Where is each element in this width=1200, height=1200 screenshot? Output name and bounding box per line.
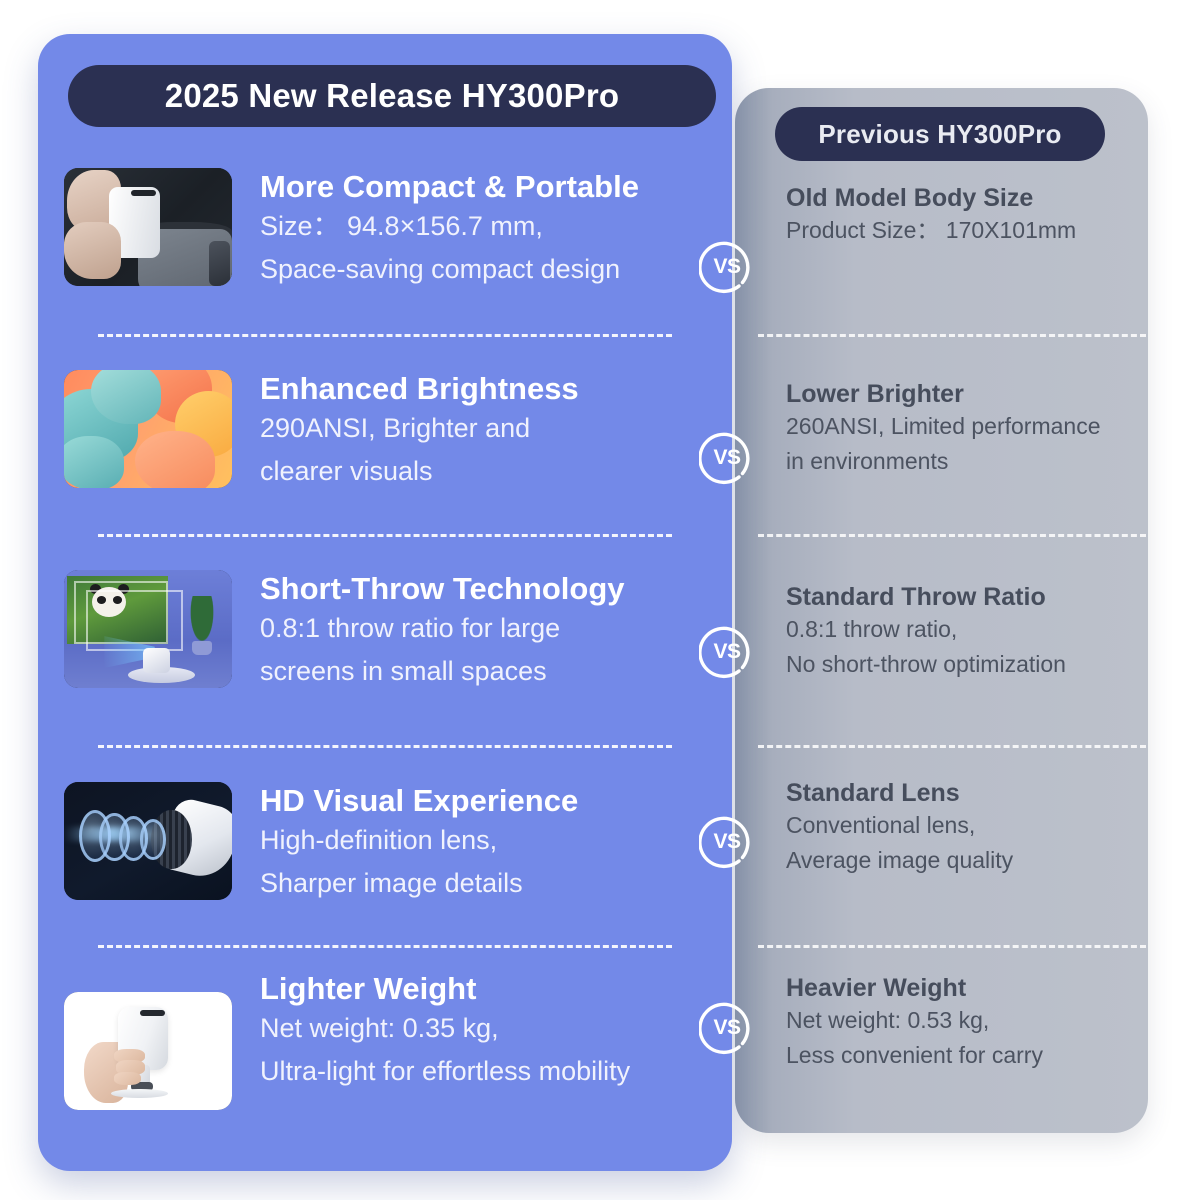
hand-holding-projector-thumbnail xyxy=(64,992,232,1110)
feature-line-new-5-1: Net weight: 0.35 kg, xyxy=(260,1007,630,1051)
vs-badge-label-1: VS xyxy=(699,239,755,295)
comparison-infographic: 2025 New Release HY300Pro Previous HY300… xyxy=(0,0,1200,1200)
feature-text-old-5: Heavier Weight Net weight: 0.53 kg, Less… xyxy=(786,973,1043,1073)
feature-line-new-2-2: clearer visuals xyxy=(260,450,579,494)
feature-line-new-4-2: Sharper image details xyxy=(260,862,578,906)
vs-badge-4: VS xyxy=(699,814,755,870)
feature-row-old-5: Heavier Weight Net weight: 0.53 kg, Less… xyxy=(786,973,1142,1073)
feature-row-old-3: Standard Throw Ratio 0.8:1 throw ratio, … xyxy=(786,582,1142,682)
feature-title-new-3: Short-Throw Technology xyxy=(260,572,625,607)
feature-text-new-3: Short-Throw Technology 0.8:1 throw ratio… xyxy=(260,570,625,694)
feature-line-old-4-2: Average image quality xyxy=(786,843,1013,878)
feature-text-old-3: Standard Throw Ratio 0.8:1 throw ratio, … xyxy=(786,582,1066,682)
feature-line-new-2-1: 290ANSI, Brighter and xyxy=(260,407,579,451)
vs-badge-5: VS xyxy=(699,1000,755,1056)
feature-text-new-1: More Compact & Portable Size： 94.8×156.7… xyxy=(260,168,639,292)
feature-row-new-1: More Compact & Portable Size： 94.8×156.7… xyxy=(64,168,696,292)
feature-title-old-2: Lower Brighter xyxy=(786,379,1101,409)
divider-left-4 xyxy=(98,945,672,948)
feature-line-old-2-2: in environments xyxy=(786,444,1101,479)
feature-text-new-4: HD Visual Experience High-definition len… xyxy=(260,782,578,906)
feature-text-new-2: Enhanced Brightness 290ANSI, Brighter an… xyxy=(260,370,579,494)
feature-text-old-4: Standard Lens Conventional lens, Average… xyxy=(786,778,1013,878)
feature-line-new-3-1: 0.8:1 throw ratio for large xyxy=(260,607,625,651)
feature-line-old-2-1: 260ANSI, Limited performance xyxy=(786,409,1101,444)
divider-left-3 xyxy=(98,745,672,748)
feature-title-new-1: More Compact & Portable xyxy=(260,170,639,205)
feature-title-old-5: Heavier Weight xyxy=(786,973,1043,1003)
feature-row-old-4: Standard Lens Conventional lens, Average… xyxy=(786,778,1142,878)
feature-line-new-1-2: Space-saving compact design xyxy=(260,248,639,292)
feature-line-old-5-2: Less convenient for carry xyxy=(786,1038,1043,1073)
lens-stack-thumbnail xyxy=(64,782,232,900)
vs-badge-3: VS xyxy=(699,624,755,680)
divider-right-1 xyxy=(758,334,1146,337)
feature-row-old-1: Old Model Body Size Product Size： 170X10… xyxy=(786,183,1142,248)
feature-title-new-4: HD Visual Experience xyxy=(260,784,578,819)
feature-line-old-4-1: Conventional lens, xyxy=(786,808,1013,843)
previous-model-title-badge: Previous HY300Pro xyxy=(775,107,1105,161)
feature-row-new-5: Lighter Weight Net weight: 0.35 kg, Ultr… xyxy=(64,970,696,1110)
feature-title-new-2: Enhanced Brightness xyxy=(260,372,579,407)
feature-line-new-5-2: Ultra-light for effortless mobility xyxy=(260,1050,630,1094)
colorful-flowers-brightness-thumbnail xyxy=(64,370,232,488)
feature-row-new-4: HD Visual Experience High-definition len… xyxy=(64,782,696,906)
feature-row-new-2: Enhanced Brightness 290ANSI, Brighter an… xyxy=(64,370,696,494)
feature-line-old-3-1: 0.8:1 throw ratio, xyxy=(786,612,1066,647)
divider-right-3 xyxy=(758,745,1146,748)
feature-text-new-5: Lighter Weight Net weight: 0.35 kg, Ultr… xyxy=(260,970,630,1094)
feature-title-new-5: Lighter Weight xyxy=(260,972,630,1007)
vs-badge-label-5: VS xyxy=(699,1000,755,1056)
feature-line-old-5-1: Net weight: 0.53 kg, xyxy=(786,1003,1043,1038)
previous-model-title-text: Previous HY300Pro xyxy=(818,119,1061,150)
feature-row-new-3: Short-Throw Technology 0.8:1 throw ratio… xyxy=(64,570,696,694)
feature-title-old-3: Standard Throw Ratio xyxy=(786,582,1066,612)
divider-left-1 xyxy=(98,334,672,337)
divider-right-4 xyxy=(758,945,1146,948)
feature-line-new-4-1: High-definition lens, xyxy=(260,819,578,863)
feature-line-new-1-1: Size： 94.8×156.7 mm, xyxy=(260,205,639,249)
divider-left-2 xyxy=(98,534,672,537)
vs-badge-label-3: VS xyxy=(699,624,755,680)
feature-line-old-1-1: Product Size： 170X101mm xyxy=(786,213,1076,248)
short-throw-projection-thumbnail xyxy=(64,570,232,688)
vs-badge-1: VS xyxy=(699,239,755,295)
feature-line-new-3-2: screens in small spaces xyxy=(260,650,625,694)
new-release-title-text: 2025 New Release HY300Pro xyxy=(165,77,619,115)
divider-right-2 xyxy=(758,534,1146,537)
new-release-title-badge: 2025 New Release HY300Pro xyxy=(68,65,716,127)
vs-badge-label-4: VS xyxy=(699,814,755,870)
vs-badge-2: VS xyxy=(699,430,755,486)
feature-title-old-1: Old Model Body Size xyxy=(786,183,1076,213)
feature-title-old-4: Standard Lens xyxy=(786,778,1013,808)
feature-line-old-3-2: No short-throw optimization xyxy=(786,647,1066,682)
feature-text-old-2: Lower Brighter 260ANSI, Limited performa… xyxy=(786,379,1101,479)
feature-row-old-2: Lower Brighter 260ANSI, Limited performa… xyxy=(786,379,1142,479)
feature-text-old-1: Old Model Body Size Product Size： 170X10… xyxy=(786,183,1076,248)
backpack-compact-thumbnail xyxy=(64,168,232,286)
vs-badge-label-2: VS xyxy=(699,430,755,486)
